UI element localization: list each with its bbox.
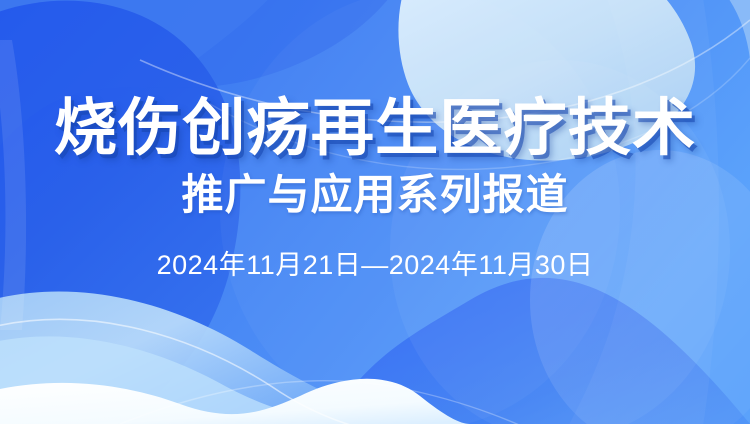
page-title: 烧伤创疡再生医疗技术 <box>54 98 697 160</box>
campaign-banner: 烧伤创疡再生医疗技术 推广与应用系列报道 2024年11月21日—2024年11… <box>0 0 750 424</box>
banner-content: 烧伤创疡再生医疗技术 推广与应用系列报道 2024年11月21日—2024年11… <box>0 0 750 424</box>
page-subtitle: 推广与应用系列报道 <box>181 174 568 216</box>
date-range: 2024年11月21日—2024年11月30日 <box>157 252 594 279</box>
